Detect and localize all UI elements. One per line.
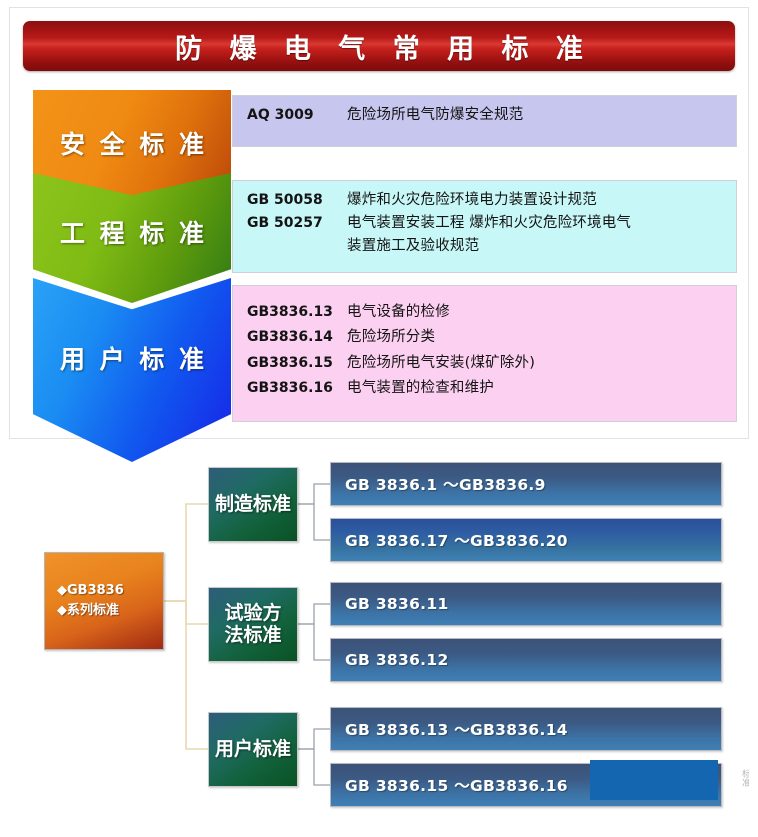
card-title-banner: 防 爆 电 气 常 用 标 准 <box>23 21 735 71</box>
standard-row: GB 50257 电气装置安装工程 爆炸和火灾危险环境电气 <box>247 212 736 235</box>
group-panel-user: GB3836.13 电气设备的检修 GB3836.14 危险场所分类 GB383… <box>232 285 737 422</box>
tree-leaf-bar[interactable]: GB 3836.11 <box>330 582 722 626</box>
tree-leaf-label: GB 3836.17 ～GB3836.20 <box>345 529 568 551</box>
standard-desc: 电气装置安装工程 爆炸和火灾危险环境电气 <box>347 212 631 235</box>
standard-row-continuation: 装置施工及验收规范 <box>247 235 736 258</box>
tree-root-line-2: ◆系列标准 <box>57 601 163 621</box>
tree-leaf-label: GB 3836.11 <box>345 595 449 613</box>
standard-row: GB3836.15 危险场所电气安装(煤矿除外) <box>247 351 736 376</box>
tree-category-test-method[interactable]: 试验方 法标准 <box>208 587 298 662</box>
standard-code: GB3836.14 <box>247 325 347 350</box>
tree-leaf-label: GB 3836.12 <box>345 651 449 669</box>
tree-leaf-label: GB 3836.13 ～GB3836.14 <box>345 718 568 740</box>
page-title: 防 爆 电 气 常 用 标 准 <box>166 27 592 66</box>
tree-category-label-line-1: 试验方 <box>224 602 281 624</box>
gb3836-series-tree: ◆GB3836 ◆系列标准 制造标准 试验方 法标准 用户标准 GB 3836.… <box>0 440 758 837</box>
tree-leaf-label: GB 3836.1 ～GB3836.9 <box>345 473 546 495</box>
tree-leaf-bar[interactable]: GB 3836.17 ～GB3836.20 <box>330 518 722 562</box>
tree-category-user[interactable]: 用户标准 <box>208 712 298 787</box>
group-panel-engineering: GB 50058 爆炸和火灾危险环境电力装置设计规范 GB 50257 电气装置… <box>232 180 737 273</box>
standard-desc: 爆炸和火灾危险环境电力装置设计规范 <box>347 189 597 212</box>
tree-category-label-line-2: 法标准 <box>224 624 281 646</box>
standard-row: GB3836.16 电气装置的检查和维护 <box>247 376 736 401</box>
tree-leaf-bar[interactable]: GB 3836.12 <box>330 638 722 682</box>
group-chevron-user-label: 用 户 标 准 <box>57 340 207 376</box>
standard-desc: 电气设备的检修 <box>347 300 450 325</box>
tree-category-manufacture[interactable]: 制造标准 <box>208 467 298 542</box>
standard-desc: 危险场所分类 <box>347 325 435 350</box>
tree-root-node[interactable]: ◆GB3836 ◆系列标准 <box>44 552 164 650</box>
tree-category-label: 用户标准 <box>215 739 291 760</box>
standard-code: GB 50058 <box>247 189 347 211</box>
standard-row: AQ 3009 危险场所电气防爆安全规范 <box>247 104 736 127</box>
standard-code: GB 50257 <box>247 212 347 234</box>
standard-code: GB3836.13 <box>247 300 347 325</box>
standards-overview-card: 防 爆 电 气 常 用 标 准 安 全 标 准 AQ 3009 危险场所电气防爆… <box>9 7 749 439</box>
standard-code: GB3836.16 <box>247 376 347 401</box>
standard-desc: 危险场所电气安装(煤矿除外) <box>347 351 535 376</box>
standard-row: GB3836.14 危险场所分类 <box>247 325 736 350</box>
watermark-text: 标准 <box>737 769 749 799</box>
standard-code: GB3836.15 <box>247 351 347 376</box>
tree-leaf-bar[interactable]: GB 3836.1 ～GB3836.9 <box>330 462 722 506</box>
group-chevron-safety-label: 安 全 标 准 <box>57 125 207 161</box>
standard-desc: 危险场所电气防爆安全规范 <box>347 104 523 127</box>
standard-row: GB3836.13 电气设备的检修 <box>247 300 736 325</box>
standard-row: GB 50058 爆炸和火灾危险环境电力装置设计规范 <box>247 189 736 212</box>
group-chevron-user: 用 户 标 准 <box>33 278 231 462</box>
standard-desc: 电气装置的检查和维护 <box>347 376 494 401</box>
tree-category-label: 制造标准 <box>215 494 291 515</box>
tree-leaf-label: GB 3836.15 ～GB3836.16 <box>345 774 568 796</box>
group-panel-safety: AQ 3009 危险场所电气防爆安全规范 <box>232 95 737 147</box>
blue-overlay-block <box>590 760 718 800</box>
standard-code: AQ 3009 <box>247 104 347 126</box>
group-chevron-engineering-label: 工 程 标 准 <box>57 214 207 250</box>
tree-leaf-bar[interactable]: GB 3836.13 ～GB3836.14 <box>330 707 722 751</box>
tree-category-label: 试验方 法标准 <box>224 603 281 646</box>
tree-root-line-1: ◆GB3836 <box>57 581 163 601</box>
standard-desc: 装置施工及验收规范 <box>347 235 479 258</box>
